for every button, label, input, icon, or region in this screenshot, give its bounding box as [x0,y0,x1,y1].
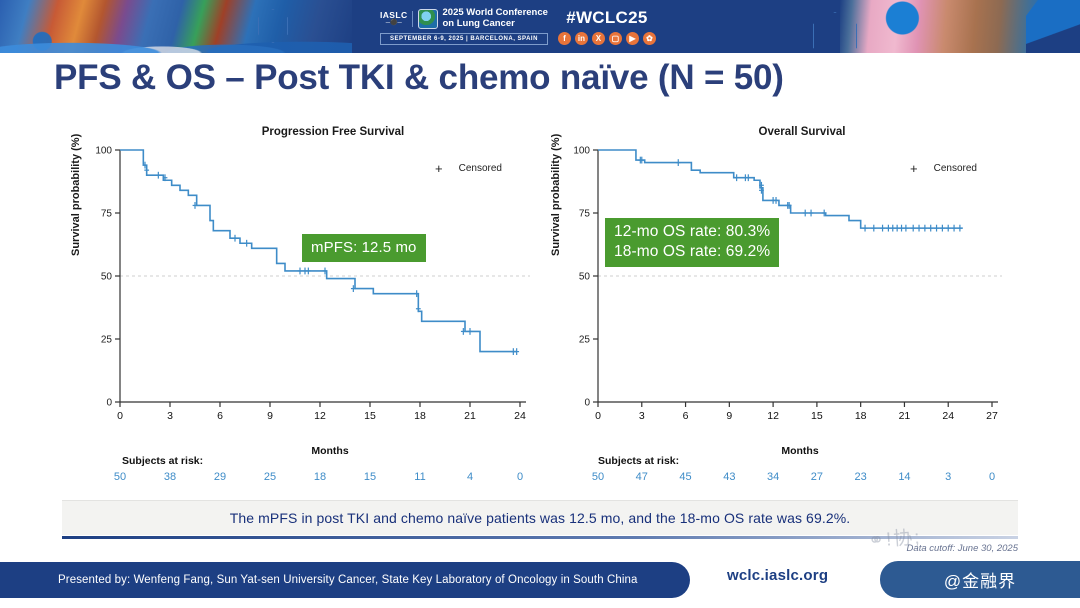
conclusion-banner: The mPFS in post TKI and chemo naïve pat… [62,500,1018,535]
plot-area-pfs: 025507510003691215182124 [60,140,560,440]
censored-marker-icon: + [910,162,918,175]
svg-text:100: 100 [573,146,590,157]
page-title: PFS & OS – Post TKI & chemo naïve (N = 5… [54,58,1014,98]
globe-icon [418,9,438,29]
risk-table-label-os: Subjects at risk: [598,455,1018,467]
footer-presenter-line: Presented by: Wenfeng Fang, Sun Yat-sen … [58,574,638,586]
svg-text:75: 75 [579,209,591,220]
conference-hashtag: #WCLC25 [566,8,647,28]
risk-count-27mo: 0 [989,471,995,483]
risk-count-24mo: 0 [517,471,523,483]
censored-marker-icon: + [435,162,443,175]
footer-website-url[interactable]: wclc.iaslc.org [727,567,828,584]
risk-count-15mo: 27 [811,471,823,483]
conference-dates: SEPTEMBER 6-9, 2025 | BARCELONA, SPAIN [380,33,548,45]
svg-text:15: 15 [364,410,376,422]
linkedin-icon[interactable]: in [575,32,588,45]
banner-image-barcelona-left [0,0,352,53]
svg-text:25: 25 [101,335,113,346]
legend-label-censored: Censored [459,163,502,174]
plot-area-os: 02550751000369121518212427 [540,140,1040,440]
iaslc-wordmark-text: IASLC [380,10,408,20]
risk-table-os: Subjects at risk: 504745433427231430 [598,455,1018,487]
slide-root: IASLC ─⚫─ 2025 World Conference on Lung … [0,0,1080,608]
risk-count-0mo: 50 [592,471,604,483]
svg-text:15: 15 [811,410,823,422]
risk-count-6mo: 45 [679,471,691,483]
svg-text:3: 3 [167,410,173,422]
risk-count-21mo: 4 [467,471,473,483]
svg-text:6: 6 [217,410,223,422]
svg-text:21: 21 [464,410,476,422]
svg-text:21: 21 [899,410,911,422]
facebook-icon[interactable]: f [558,32,571,45]
risk-count-24mo: 3 [945,471,951,483]
x-twitter-icon[interactable]: X [592,32,605,45]
svg-text:24: 24 [514,410,526,422]
banner-image-barcelona-right [840,0,1080,53]
risk-count-9mo: 25 [264,471,276,483]
iaslc-logo-block: IASLC ─⚫─ 2025 World Conference on Lung … [380,8,548,45]
risk-count-18mo: 11 [414,471,425,483]
svg-text:0: 0 [595,410,601,422]
chart-title-pfs: Progression Free Survival [60,126,560,138]
svg-text:75: 75 [101,209,113,220]
chart-title-os: Overall Survival [540,126,1040,138]
instagram-icon[interactable]: ▢ [609,32,622,45]
svg-text:27: 27 [986,410,998,422]
risk-count-3mo: 38 [164,471,176,483]
conference-name: 2025 World Conference on Lung Cancer [443,8,548,30]
footer-presenter-name: Wenfeng Fang, Sun Yat-sen University Can… [134,574,638,586]
svg-text:50: 50 [101,272,113,283]
chart-overall-survival: Overall Survival Survival probability (%… [540,126,1040,446]
svg-text:100: 100 [95,146,112,157]
watermark-badge: @金融界 [880,561,1080,598]
svg-text:12: 12 [314,410,326,422]
legend-os: + Censored [910,162,977,175]
watermark-label: @金融界 [944,567,1016,592]
footer-presented-by-label: Presented by: [58,574,130,586]
footer-presenter-bar: Presented by: Wenfeng Fang, Sun Yat-sen … [0,562,690,598]
svg-text:0: 0 [106,398,112,409]
svg-text:50: 50 [579,272,591,283]
chart-progression-free-survival: Progression Free Survival Survival proba… [60,126,560,446]
legend-pfs: + Censored [435,162,502,175]
svg-text:18: 18 [855,410,867,422]
conference-banner: IASLC ─⚫─ 2025 World Conference on Lung … [0,0,1080,53]
data-cutoff-note: Data cutoff: June 30, 2025 [907,543,1018,554]
social-icon-row: f in X ▢ ▶ ✿ [558,32,656,45]
risk-count-15mo: 15 [364,471,376,483]
risk-count-0mo: 50 [114,471,126,483]
svg-text:0: 0 [117,410,123,422]
svg-text:9: 9 [726,410,732,422]
svg-text:24: 24 [942,410,954,422]
risk-count-21mo: 14 [898,471,910,483]
conference-name-line2: on Lung Cancer [443,19,548,30]
conclusion-divider [62,536,1018,539]
risk-table-row-pfs: 5038292518151140 [122,471,542,487]
hashtag-block: #WCLC25 f in X ▢ ▶ ✿ [558,8,656,45]
svg-text:12: 12 [767,410,779,422]
svg-text:3: 3 [639,410,645,422]
risk-count-12mo: 18 [314,471,326,483]
risk-count-6mo: 29 [214,471,226,483]
svg-text:18: 18 [414,410,426,422]
callout-mpfs: mPFS: 12.5 mo [302,234,426,262]
risk-count-9mo: 43 [723,471,735,483]
svg-text:9: 9 [267,410,273,422]
iaslc-wordmark: IASLC ─⚫─ [380,11,413,26]
svg-text:6: 6 [683,410,689,422]
risk-table-row-os: 504745433427231430 [598,471,1018,487]
legend-label-censored: Censored [934,163,977,174]
risk-count-3mo: 47 [636,471,648,483]
risk-table-label-pfs: Subjects at risk: [122,455,542,467]
risk-table-pfs: Subjects at risk: 5038292518151140 [122,455,542,487]
svg-text:25: 25 [579,335,591,346]
wechat-icon[interactable]: ✿ [643,32,656,45]
svg-text:0: 0 [584,398,590,409]
banner-center-block: IASLC ─⚫─ 2025 World Conference on Lung … [380,0,700,53]
risk-count-18mo: 23 [855,471,867,483]
risk-count-12mo: 34 [767,471,779,483]
youtube-icon[interactable]: ▶ [626,32,639,45]
callout-os-rates: 12-mo OS rate: 80.3% 18-mo OS rate: 69.2… [605,218,779,267]
